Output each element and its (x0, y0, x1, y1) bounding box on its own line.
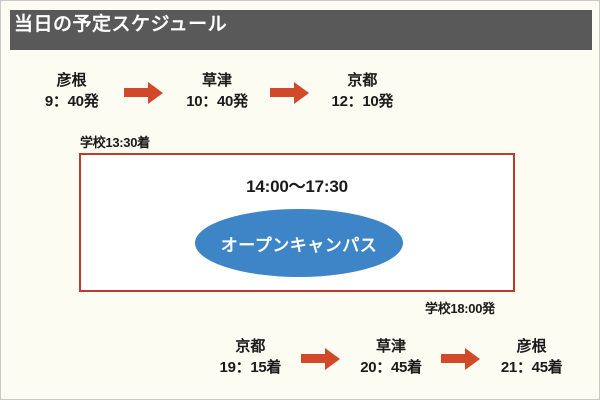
outbound-journey: 彦根 9：40発 草津 10：40発 京都 12：10発 (25, 67, 409, 117)
arrow-right-icon (264, 79, 316, 105)
outbound-stop-1: 彦根 9：40発 (25, 71, 118, 113)
event-time-range: 14:00〜17:30 (81, 172, 513, 197)
return-journey: 京都 19：15着 草津 20：45着 彦根 21：45着 (206, 333, 576, 383)
station-name: 草津 (376, 337, 406, 357)
return-stop-1: 京都 19：15着 (206, 337, 295, 379)
outbound-stop-3: 京都 12：10発 (316, 71, 409, 113)
station-name: 京都 (235, 337, 265, 357)
station-time: 10：40発 (186, 91, 248, 113)
station-time: 20：45着 (360, 357, 422, 379)
station-time: 12：10発 (332, 91, 394, 113)
event-label: オープンキャンパス (221, 231, 377, 256)
station-name: 彦根 (57, 71, 87, 91)
school-arrival-note: 学校13:30着 (80, 132, 150, 151)
schedule-diagram: 当日の予定スケジュール 彦根 9：40発 草津 10：40発 京都 12：10発… (0, 0, 600, 400)
station-name: 彦根 (517, 337, 547, 357)
return-stop-3: 彦根 21：45着 (487, 337, 576, 379)
station-name: 京都 (347, 71, 377, 91)
arrow-right-icon (295, 345, 347, 371)
return-stop-2: 草津 20：45着 (347, 337, 436, 379)
arrow-right-icon (118, 79, 170, 105)
arrow-right-icon (435, 345, 487, 371)
school-departure-note: 学校18:00発 (425, 298, 495, 317)
station-time: 9：40発 (45, 91, 99, 113)
event-ellipse: オープンキャンパス (195, 209, 403, 277)
station-time: 19：15着 (220, 357, 282, 379)
page-title: 当日の予定スケジュール (14, 9, 227, 36)
outbound-stop-2: 草津 10：40発 (170, 71, 263, 113)
station-name: 草津 (202, 71, 232, 91)
station-time: 21：45着 (501, 357, 563, 379)
event-box: 14:00〜17:30 オープンキャンパス (79, 153, 515, 292)
